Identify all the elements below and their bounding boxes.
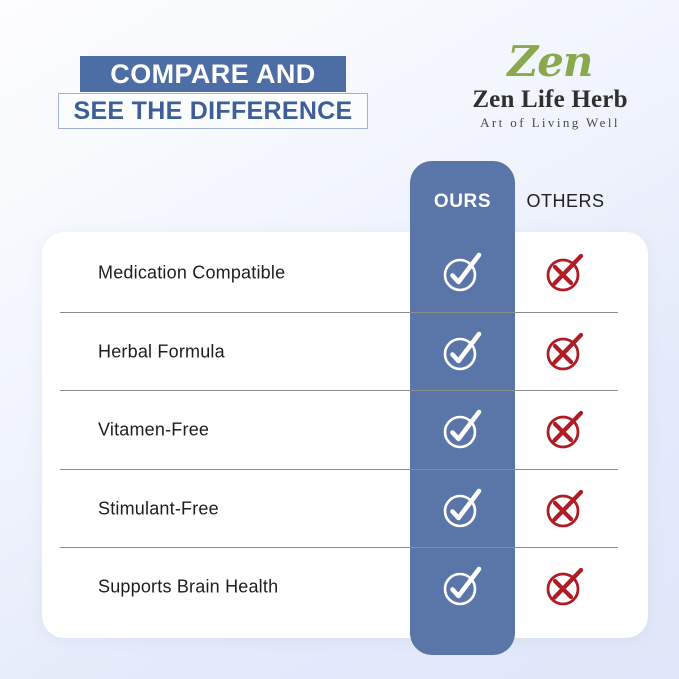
cross-icon [541,249,589,297]
table-row: Herbal Formula [0,313,679,392]
check-icon [438,406,486,454]
check-icon [438,563,486,611]
table-row: Vitamen-Free [0,391,679,470]
page-title-line-1: COMPARE AND [80,56,346,92]
brand-tagline: Art of Living Well [455,114,645,132]
cross-icon [541,563,589,611]
check-icon [438,485,486,533]
logo-wordmark-icon: Zen [455,40,645,84]
check-icon [438,328,486,376]
cross-icon [541,485,589,533]
table-row: Medication Compatible [0,234,679,313]
table-row: Supports Brain Health [0,548,679,627]
brand-logo: Zen Zen Life Herb Art of Living Well [455,40,645,135]
check-icon [438,249,486,297]
page-title: COMPARE AND SEE THE DIFFERENCE [58,56,370,129]
row-label: Supports Brain Health [98,577,278,598]
row-label: Medication Compatible [98,263,285,284]
row-label: Stimulant-Free [98,498,219,519]
cross-icon [541,328,589,376]
brand-name: Zen Life Herb [455,86,645,114]
comparison-rows: Medication Compatible Herbal Formula [0,234,679,634]
comparison-infographic: COMPARE AND SEE THE DIFFERENCE Zen Zen L… [0,0,679,679]
header: COMPARE AND SEE THE DIFFERENCE Zen Zen L… [0,0,679,150]
table-row: Stimulant-Free [0,470,679,549]
column-header-others: OTHERS [513,191,618,212]
page-title-line-2: SEE THE DIFFERENCE [58,93,368,129]
row-label: Herbal Formula [98,341,225,362]
cross-icon [541,406,589,454]
row-label: Vitamen-Free [98,420,209,441]
column-header-ours: OURS [410,191,515,213]
